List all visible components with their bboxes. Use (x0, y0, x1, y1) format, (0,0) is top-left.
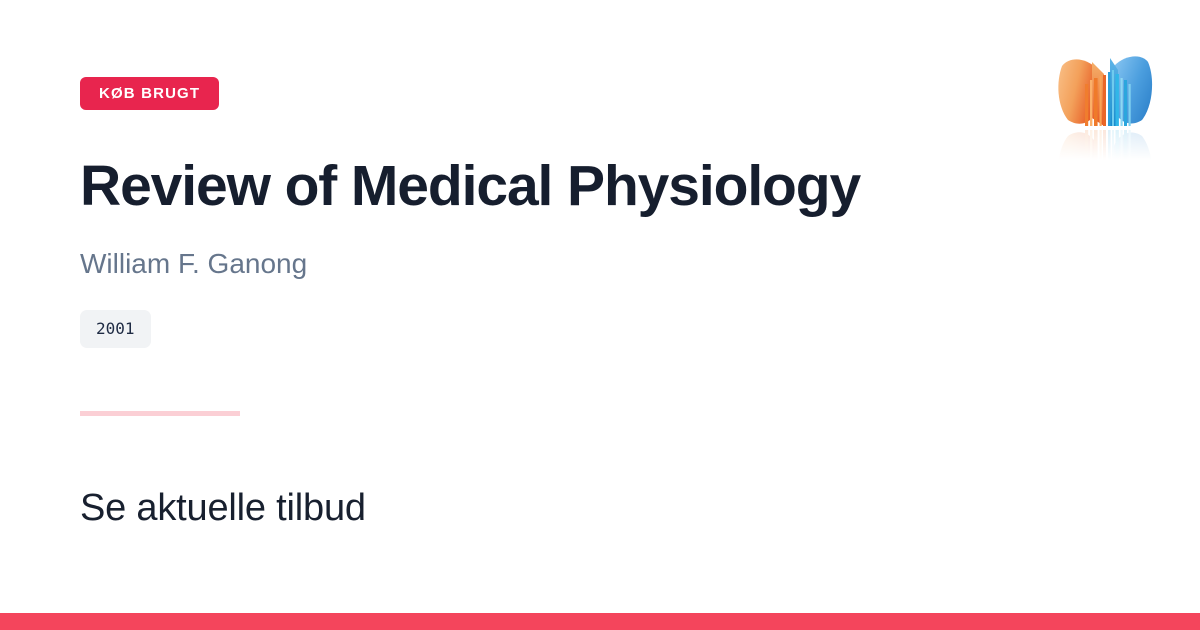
book-author: William F. Ganong (80, 247, 307, 281)
section-divider (80, 411, 240, 416)
site-logo[interactable] (1052, 48, 1158, 160)
cta-label[interactable]: Se aktuelle tilbud (80, 486, 366, 532)
share-card: KØB BRUGT Review of Medical Physiology W… (0, 0, 1200, 630)
page-title: Review of Medical Physiology (80, 155, 1100, 219)
butterfly-book-logo-icon (1052, 48, 1158, 160)
status-badge: KØB BRUGT (80, 77, 219, 110)
footer-accent-bar (0, 613, 1200, 630)
book-year-chip: 2001 (80, 310, 151, 348)
